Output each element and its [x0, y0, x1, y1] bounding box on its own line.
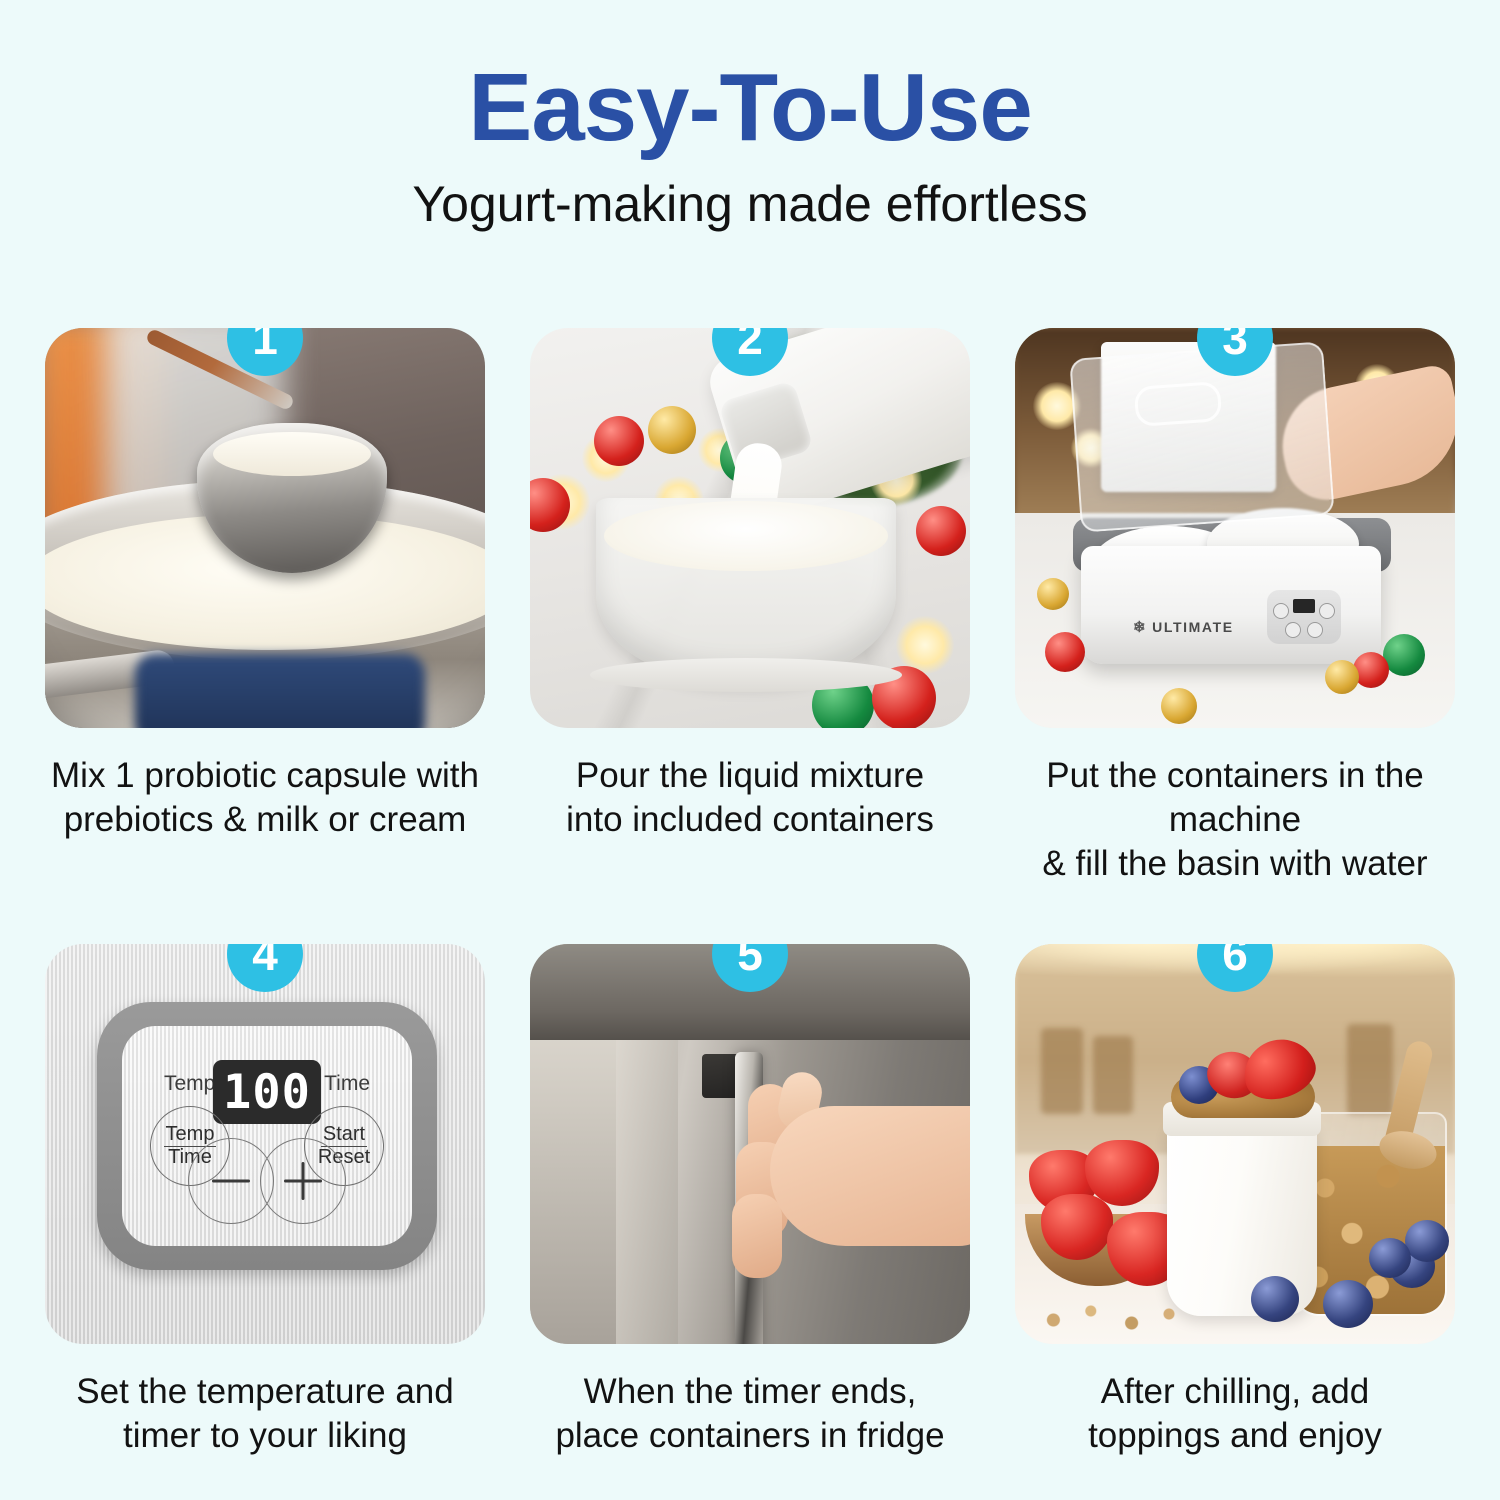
blueberry: [1369, 1238, 1411, 1278]
ornament-gold: [1161, 688, 1197, 724]
blueberry: [1405, 1220, 1449, 1262]
machine-start-reset-button[interactable]: [1319, 603, 1335, 619]
hand-palm: [770, 1106, 970, 1246]
step-image-2: 2: [530, 328, 970, 728]
blueberry: [1251, 1276, 1299, 1322]
step-image-6: 6: [1015, 944, 1455, 1344]
step-caption-3: Put the containers in the machine & fill…: [1015, 754, 1455, 886]
snowflake-icon: ❄: [1133, 618, 1147, 636]
stovetop-blue-glow: [135, 654, 425, 728]
easy-to-use-infographic: Easy-To-Use Yogurt-making made effortles…: [0, 0, 1500, 1500]
plus-icon-vertical: [302, 1162, 305, 1200]
ornament-red: [916, 506, 966, 556]
machine-minus-button[interactable]: [1285, 622, 1301, 638]
start-reset-button-top-label: Start: [321, 1124, 367, 1147]
minus-icon: [212, 1180, 250, 1183]
cabinet-jar: [1347, 1024, 1393, 1116]
step-card-3: ❄ ULTIMATE 3 Put the containers i: [1015, 328, 1455, 886]
machine-temp-time-button[interactable]: [1273, 603, 1289, 619]
step-caption-6: After chilling, add toppings and enjoy: [1015, 1370, 1455, 1458]
step-badge-4: 4: [227, 944, 303, 992]
page-title: Easy-To-Use: [0, 58, 1500, 159]
control-panel-face: Temp Time 100 T: [122, 1026, 412, 1246]
ornament-red: [594, 416, 644, 466]
step-card-1: 1 Mix 1 probiotic capsule with prebiotic…: [45, 328, 485, 886]
header: Easy-To-Use Yogurt-making made effortles…: [0, 0, 1500, 232]
step-card-6: 6 After chilling, add toppings and enjoy: [1015, 944, 1455, 1458]
step-caption-1: Mix 1 probiotic capsule with prebiotics …: [45, 754, 485, 842]
step-caption-4: Set the temperature and timer to your li…: [45, 1370, 485, 1458]
bowl-base: [590, 658, 902, 692]
ornament-gold: [1037, 578, 1069, 610]
step-caption-2: Pour the liquid mixture into included co…: [530, 754, 970, 842]
fridge-door-edge: [616, 1040, 678, 1344]
temp-label: Temp: [164, 1072, 215, 1096]
machine-lcd-display: [1293, 599, 1315, 613]
finger: [732, 1194, 782, 1278]
machine-brand-logo: ❄ ULTIMATE: [1133, 618, 1234, 636]
step-card-5: 5 When the timer ends, place containers …: [530, 944, 970, 1458]
step-image-1: 1: [45, 328, 485, 728]
machine-clear-lid: [1069, 341, 1335, 532]
control-panel-bezel: Temp Time 100 T: [97, 1002, 437, 1270]
step-image-4: Temp Time 100 T: [45, 944, 485, 1344]
page-subtitle: Yogurt-making made effortless: [0, 177, 1500, 232]
blueberry: [1323, 1280, 1373, 1328]
brand-name: ULTIMATE: [1152, 619, 1234, 635]
ornament-red: [1353, 652, 1389, 688]
ornament-red: [1045, 632, 1085, 672]
ornament-gold: [1325, 660, 1359, 694]
plus-button[interactable]: [260, 1138, 346, 1224]
ornament-gold: [648, 406, 696, 454]
lcd-display: 100: [213, 1060, 321, 1124]
step-card-2: 2 Pour the liquid mixture into included …: [530, 328, 970, 886]
step-caption-5: When the timer ends, place containers in…: [530, 1370, 970, 1458]
cabinet-jar: [1093, 1036, 1133, 1114]
step-card-4: Temp Time 100 T: [45, 944, 485, 1458]
step-image-5: 5: [530, 944, 970, 1344]
time-label: Time: [324, 1072, 370, 1096]
step-image-3: ❄ ULTIMATE 3: [1015, 328, 1455, 728]
ladle-cream: [213, 432, 371, 476]
machine-plus-button[interactable]: [1307, 622, 1323, 638]
steps-grid: 1 Mix 1 probiotic capsule with prebiotic…: [45, 328, 1455, 1458]
machine-control-panel[interactable]: [1267, 590, 1341, 644]
lcd-value: 100: [223, 1069, 311, 1116]
cabinet-jar: [1041, 1028, 1083, 1114]
ornament-green: [1383, 634, 1425, 676]
bowl-milk-surface: [604, 501, 888, 571]
lid-handle: [1134, 381, 1223, 427]
granola-crumbs: [1033, 1302, 1203, 1332]
lcd-digits: 100: [223, 1069, 311, 1116]
